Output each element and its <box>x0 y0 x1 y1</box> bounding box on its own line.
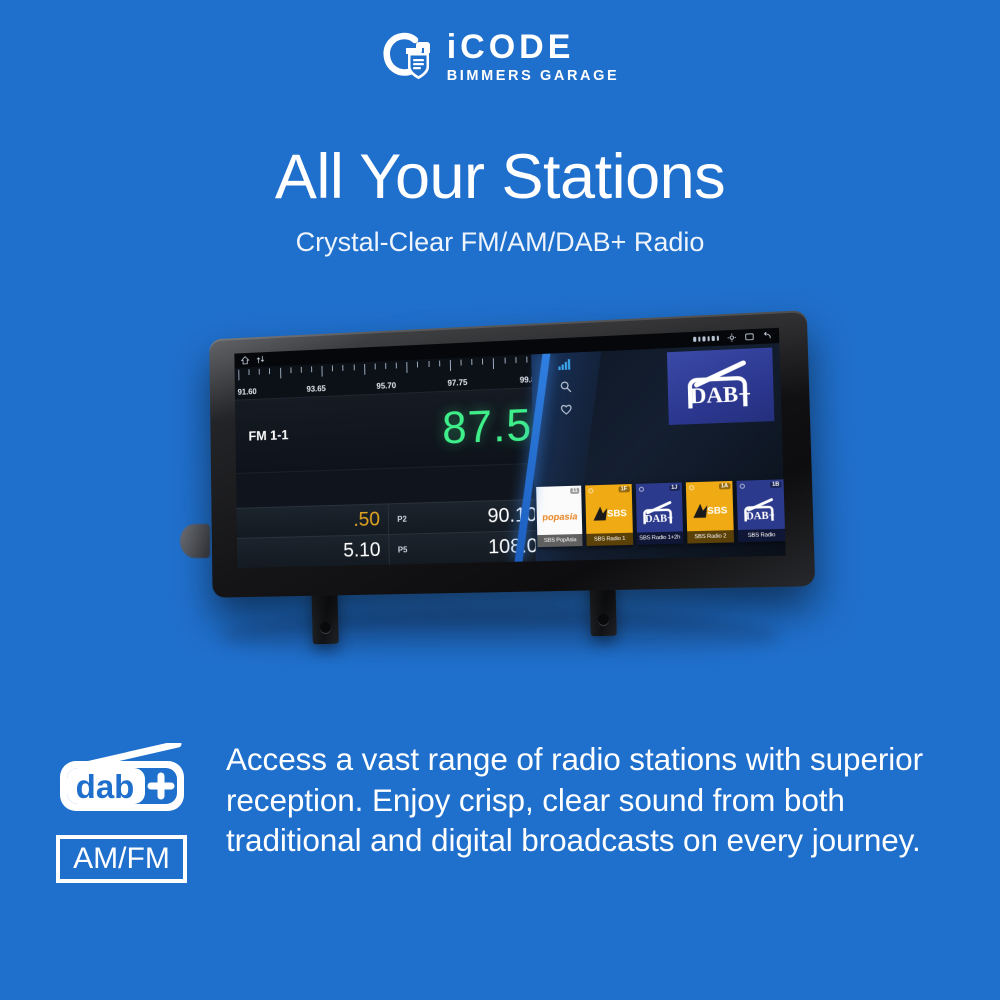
brand-name: iCODE <box>447 30 620 64</box>
station-dot-icon <box>740 484 745 489</box>
home-icon[interactable] <box>241 356 249 365</box>
scale-label: 91.60 <box>238 387 257 396</box>
preset-number: P2 <box>397 514 407 523</box>
location-pin-icon[interactable] <box>727 333 737 343</box>
up-down-arrows-icon[interactable] <box>256 355 265 364</box>
station-number: 11 <box>570 488 580 494</box>
station-name: SBS Radio 2 <box>687 530 734 543</box>
dab-plus-logo-icon: DAB+ <box>638 500 680 528</box>
svg-text:dab: dab <box>76 768 135 805</box>
scale-label: 95.70 <box>376 381 396 391</box>
station-number: 1F <box>619 486 630 492</box>
station-name: SBS PopAsia <box>537 534 582 547</box>
station-dot-icon <box>589 488 594 493</box>
station-tile[interactable]: 1J DAB+ SBS Radio 1+2h <box>635 482 683 544</box>
preset-frequency: 108.0 <box>488 535 538 559</box>
sbs-logo-icon: SBS <box>690 499 730 525</box>
station-name: SBS Radio 1 <box>587 533 633 546</box>
dab-plus-logo-icon: DAB+ <box>739 497 782 525</box>
svg-text:DAB+: DAB+ <box>746 510 775 522</box>
am-fm-badge: AM/FM <box>56 835 187 883</box>
device-screen[interactable]: 91.60 93.65 95.70 97.75 99.80 FM 1-1 87.… <box>234 328 785 568</box>
preset-frequency: 5.10 <box>343 539 381 563</box>
device-reflection <box>220 610 780 662</box>
dab-plus-radio-badge-icon: dab <box>56 743 196 817</box>
feature-section: dab AM/FM Access a vast range of radio s… <box>56 735 946 883</box>
page-subtitle: Crystal-Clear FM/AM/DAB+ Radio <box>0 227 1000 258</box>
station-dot-icon <box>689 485 694 490</box>
station-number: 1B <box>770 481 782 488</box>
popasia-logo-icon: popasia <box>542 506 576 527</box>
station-name: SBS Radio <box>738 529 786 543</box>
station-name: SBS Radio 1+2h <box>636 531 683 544</box>
band-label: FM 1-1 <box>248 428 288 444</box>
brand-tagline: BIMMERS GARAGE <box>447 69 620 84</box>
dab-plus-hero-tile[interactable]: DAB+ <box>667 347 774 425</box>
station-number: 1J <box>669 485 680 491</box>
current-station-row: FM 1-1 87.50 <box>235 388 545 474</box>
station-number: 1A <box>719 483 731 489</box>
dab-plus-logo-icon: DAB+ <box>677 357 763 415</box>
station-tile[interactable]: 11 popasia SBS PopAsia <box>536 486 583 548</box>
dab-radio-pane[interactable]: DAB+ 11 popasia SBS PopAsia 1F <box>531 343 785 561</box>
preset-number: P5 <box>398 545 408 554</box>
scale-label: 93.65 <box>306 384 325 394</box>
signal-bars-icon[interactable] <box>558 359 571 371</box>
fm-radio-pane[interactable]: 91.60 93.65 95.70 97.75 99.80 FM 1-1 87.… <box>235 354 548 568</box>
station-dot-icon <box>539 490 544 495</box>
preset-button[interactable]: .50 <box>236 504 388 538</box>
page-title: All Your Stations <box>0 141 1000 213</box>
badge-column: dab AM/FM <box>56 735 196 883</box>
svg-text:DAB+: DAB+ <box>645 513 674 525</box>
station-tile[interactable]: 1F SBS SBS Radio 1 <box>586 484 633 546</box>
preset-button[interactable]: 5.10 <box>237 535 390 568</box>
feature-description: Access a vast range of radio stations wi… <box>226 735 946 861</box>
svg-text:DAB+: DAB+ <box>690 381 752 409</box>
am-fm-label: AM/FM <box>73 842 170 876</box>
scale-label: 97.75 <box>447 378 467 388</box>
sbs-logo-icon: SBS <box>590 502 629 527</box>
screenshot-icon[interactable] <box>745 332 755 342</box>
device-side-knob <box>180 524 210 558</box>
station-tile[interactable]: 1A SBS SBS Radio 2 <box>685 481 733 544</box>
svg-text:SBS: SBS <box>707 505 728 516</box>
dab-tool-column <box>558 359 572 415</box>
brand-header: iCODE BIMMERS GARAGE <box>0 30 1000 84</box>
dab-station-list[interactable]: 11 popasia SBS PopAsia 1F SBS SBS <box>536 479 785 547</box>
preset-grid[interactable]: .50 P2 90.10 5.10 P5 <box>236 499 547 568</box>
dab-plus-badge-svg: dab <box>56 743 196 817</box>
head-unit-product-image: 91.60 93.65 95.70 97.75 99.80 FM 1-1 87.… <box>150 310 850 690</box>
svg-text:popasia: popasia <box>542 511 576 522</box>
preset-frequency: 90.10 <box>487 503 537 527</box>
back-arrow-icon[interactable] <box>762 331 772 341</box>
search-icon[interactable] <box>559 381 571 393</box>
heart-icon[interactable] <box>560 404 572 415</box>
svg-text:SBS: SBS <box>607 508 627 519</box>
head-unit-device: 91.60 93.65 95.70 97.75 99.80 FM 1-1 87.… <box>209 310 815 598</box>
status-indicators <box>693 336 719 342</box>
station-dot-icon <box>638 487 643 492</box>
icode-shield-emblem-icon <box>381 31 433 83</box>
preset-frequency: .50 <box>353 508 380 531</box>
station-tile[interactable]: 1B DAB+ SBS Radio <box>736 479 785 542</box>
